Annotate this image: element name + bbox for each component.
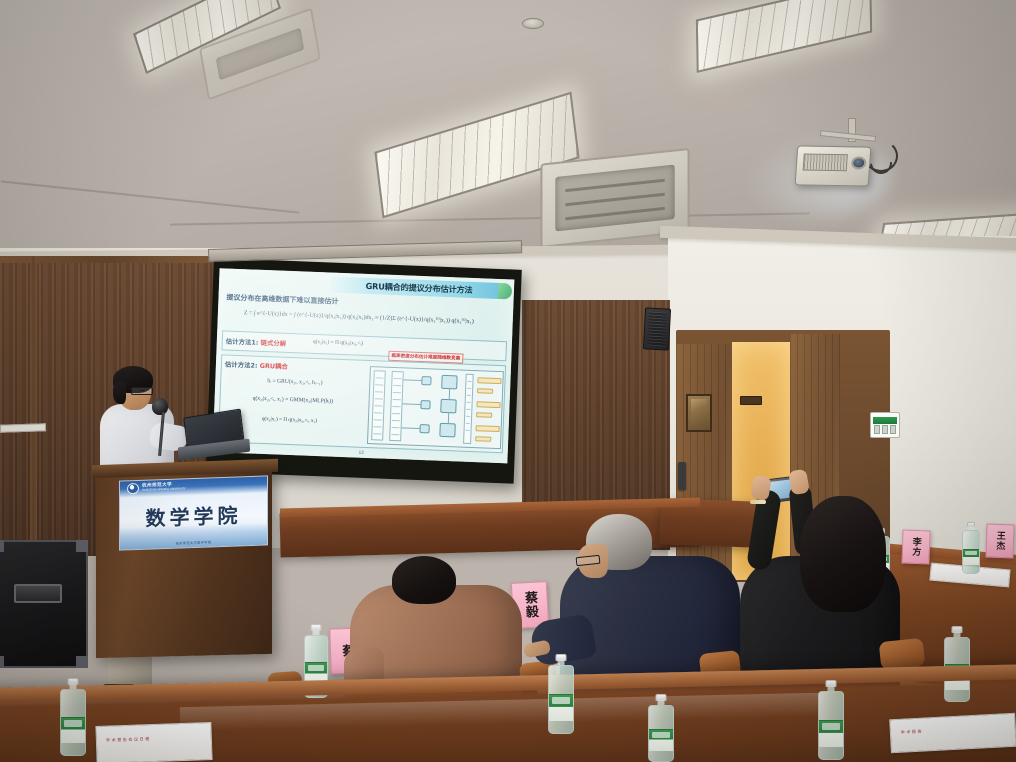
diagram-output-chip <box>476 425 500 432</box>
method1-name: 链式分解 <box>260 339 286 348</box>
chair-armrest[interactable] <box>879 638 926 670</box>
slide-equation-main: Z = ∫ e^{-U(x)}dx = ∫ (e^{-U(x)}/q(x₂|x₁… <box>244 309 474 325</box>
projection-screen: GRU耦合的提议分布估计方法 提议分布在高维数据下难以直接估计 Z = ∫ e^… <box>206 258 522 484</box>
water-bottle[interactable] <box>962 522 980 574</box>
name-card-right-2: 王杰 <box>985 524 1014 559</box>
diagram-output-chip <box>476 401 500 408</box>
case-corner <box>76 540 88 552</box>
slide-title: GRU耦合的提议分布估计方法 <box>365 280 472 296</box>
diagram-output-chip <box>477 388 493 394</box>
case-corner <box>76 656 88 668</box>
slide-subtitle: 提议分布在高维数据下难以直接估计 <box>226 293 338 307</box>
attendee-right-hair <box>800 496 886 612</box>
diagram-gru-cell <box>439 423 456 438</box>
method2-prefix: 估计方法2: <box>225 361 258 370</box>
paper-text: 学术报告会议日程 <box>106 736 151 744</box>
framed-picture <box>686 394 712 432</box>
door-room-label <box>740 396 762 405</box>
wall-strip-sign <box>0 423 46 433</box>
diagram-output-chip <box>477 377 501 384</box>
water-bottle[interactable] <box>548 654 574 734</box>
door-handle[interactable] <box>678 462 686 490</box>
emergency-exit-sign <box>870 412 900 438</box>
diagram-output-chip <box>475 436 491 442</box>
light-switches[interactable] <box>874 425 896 434</box>
paper-text: 学术报告 <box>901 728 924 735</box>
water-bottle[interactable] <box>818 680 844 760</box>
attendee-right-bracelet <box>750 500 766 504</box>
diagram-node <box>420 400 430 409</box>
water-bottle[interactable] <box>60 678 86 756</box>
name-card-text: 蔡毅 <box>520 591 540 620</box>
name-card-text: 王杰 <box>993 531 1007 551</box>
podium-banner: 杭州师范大学 HANGZHOU NORMAL UNIVERSITY 数学学院 杭… <box>119 475 268 550</box>
projector-vent <box>803 154 848 172</box>
attendee-left-head <box>392 556 456 604</box>
water-bottle[interactable] <box>648 694 674 762</box>
diagram-gru-cell <box>441 375 458 390</box>
ac-vane <box>566 207 665 220</box>
wall-speaker <box>643 307 671 350</box>
slide-content: GRU耦合的提议分布估计方法 提议分布在高维数据下难以直接估计 Z = ∫ e^… <box>213 268 515 463</box>
projector <box>795 145 872 186</box>
microphone-head <box>152 398 168 415</box>
method2-name: GRU耦合 <box>260 362 288 371</box>
paper-front-left[interactable]: 学术报告会议日程 <box>95 722 212 762</box>
equipment-road-case <box>0 540 88 668</box>
ac-vane <box>566 193 665 206</box>
seminar-room-photo: GRU耦合的提议分布估计方法 提议分布在高维数据下难以直接估计 Z = ∫ e^… <box>0 0 1016 762</box>
name-card-right-1: 李方 <box>901 530 930 565</box>
exit-sign-bar <box>873 417 897 424</box>
case-corner <box>0 540 4 552</box>
case-handle[interactable] <box>14 584 62 603</box>
university-name-en: HANGZHOU NORMAL UNIVERSITY <box>142 487 186 492</box>
diagram-output-chip <box>476 412 492 418</box>
speaker-grille <box>647 312 667 347</box>
presenter-hair-side <box>113 382 126 404</box>
diagram-node <box>419 424 429 433</box>
presenter-glasses <box>131 387 153 395</box>
method1-prefix: 估计方法1: <box>226 338 259 347</box>
ac-vane <box>566 179 665 192</box>
slide-page-number: 13 <box>359 450 364 455</box>
slide-title-band: GRU耦合的提议分布估计方法 <box>330 276 508 299</box>
case-corner <box>0 656 4 668</box>
name-card-text: 李方 <box>909 537 923 557</box>
diagram-node <box>421 376 431 385</box>
paper-front-right[interactable]: 学术报告 <box>889 713 1016 754</box>
water-bottle[interactable] <box>944 626 970 702</box>
university-name: 杭州师范大学 HANGZHOU NORMAL UNIVERSITY <box>142 481 186 492</box>
university-crest-icon <box>127 483 139 494</box>
diagram-gru-cell <box>440 399 457 414</box>
smoke-detector <box>522 18 544 29</box>
wood-trim-vertical <box>30 256 37 556</box>
podium-banner-text: 数学学院 <box>120 498 267 532</box>
